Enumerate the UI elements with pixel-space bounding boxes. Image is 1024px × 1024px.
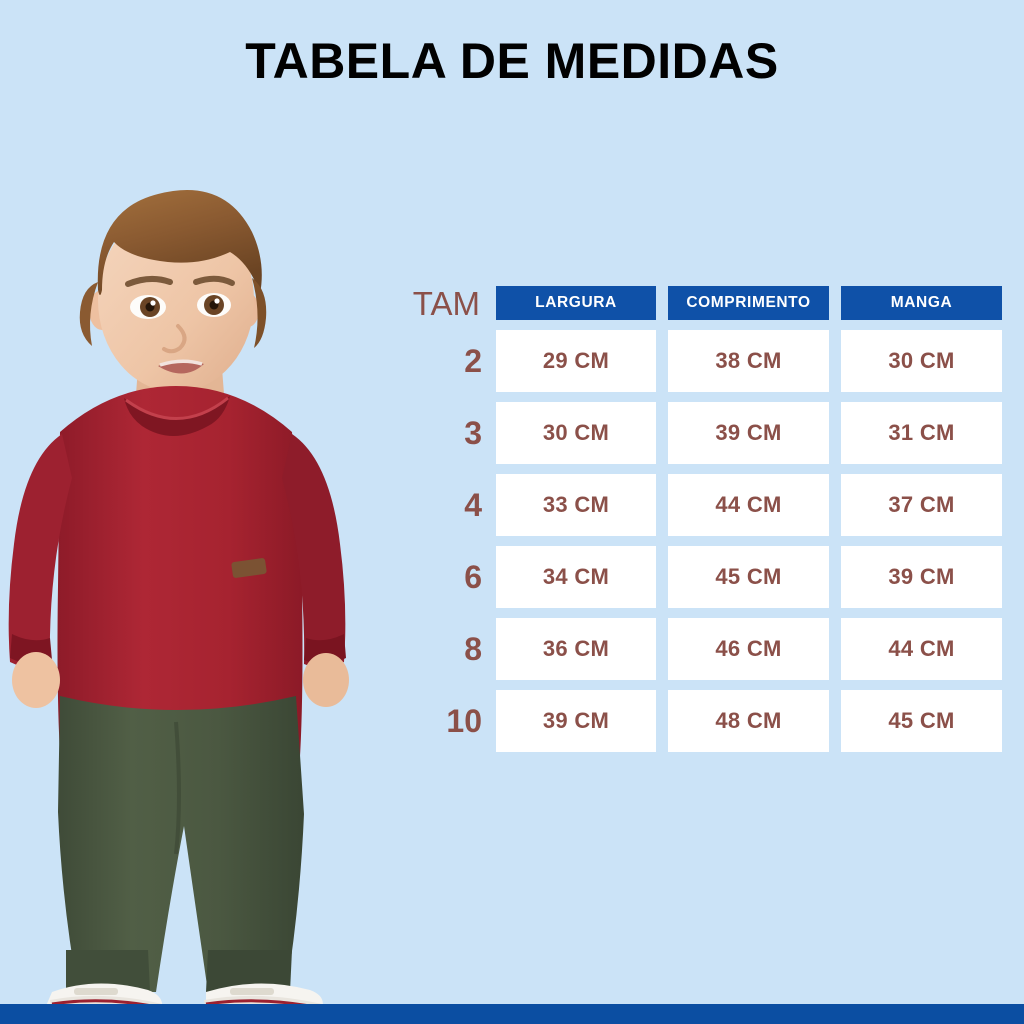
cell-largura: 33 CM — [496, 474, 656, 536]
cell-largura: 30 CM — [496, 402, 656, 464]
product-photo-toddler — [0, 160, 380, 1004]
table-row: 8 36 CM 46 CM 44 CM — [398, 618, 1014, 680]
table-header-largura: LARGURA — [496, 286, 656, 320]
cell-largura: 39 CM — [496, 690, 656, 752]
cell-comprimento: 44 CM — [668, 474, 829, 536]
row-size-label: 3 — [398, 417, 496, 449]
row-size-label: 2 — [398, 345, 496, 377]
table-row: 6 34 CM 45 CM 39 CM — [398, 546, 1014, 608]
cell-manga: 39 CM — [841, 546, 1002, 608]
table-header-row: TAM LARGURA COMPRIMENTO MANGA — [398, 286, 1014, 320]
size-chart-table: TAM LARGURA COMPRIMENTO MANGA 2 29 CM 38… — [398, 286, 1014, 762]
cell-manga: 30 CM — [841, 330, 1002, 392]
cell-largura: 29 CM — [496, 330, 656, 392]
table-row: 2 29 CM 38 CM 30 CM — [398, 330, 1014, 392]
row-size-label: 10 — [398, 705, 496, 737]
cell-manga: 31 CM — [841, 402, 1002, 464]
cell-manga: 45 CM — [841, 690, 1002, 752]
table-row: 10 39 CM 48 CM 45 CM — [398, 690, 1014, 752]
cell-manga: 44 CM — [841, 618, 1002, 680]
cell-largura: 36 CM — [496, 618, 656, 680]
row-size-label: 4 — [398, 489, 496, 521]
row-size-label: 6 — [398, 561, 496, 593]
table-row: 3 30 CM 39 CM 31 CM — [398, 402, 1014, 464]
cell-manga: 37 CM — [841, 474, 1002, 536]
cell-largura: 34 CM — [496, 546, 656, 608]
table-header-comprimento: COMPRIMENTO — [668, 286, 829, 320]
cell-comprimento: 48 CM — [668, 690, 829, 752]
footer-bar — [0, 1004, 1024, 1024]
cell-comprimento: 46 CM — [668, 618, 829, 680]
cell-comprimento: 39 CM — [668, 402, 829, 464]
page-title: TABELA DE MEDIDAS — [0, 36, 1024, 86]
table-row: 4 33 CM 44 CM 37 CM — [398, 474, 1014, 536]
table-header-manga: MANGA — [841, 286, 1002, 320]
cell-comprimento: 38 CM — [668, 330, 829, 392]
row-size-label: 8 — [398, 633, 496, 665]
cell-comprimento: 45 CM — [668, 546, 829, 608]
table-header-tam: TAM — [398, 287, 496, 320]
